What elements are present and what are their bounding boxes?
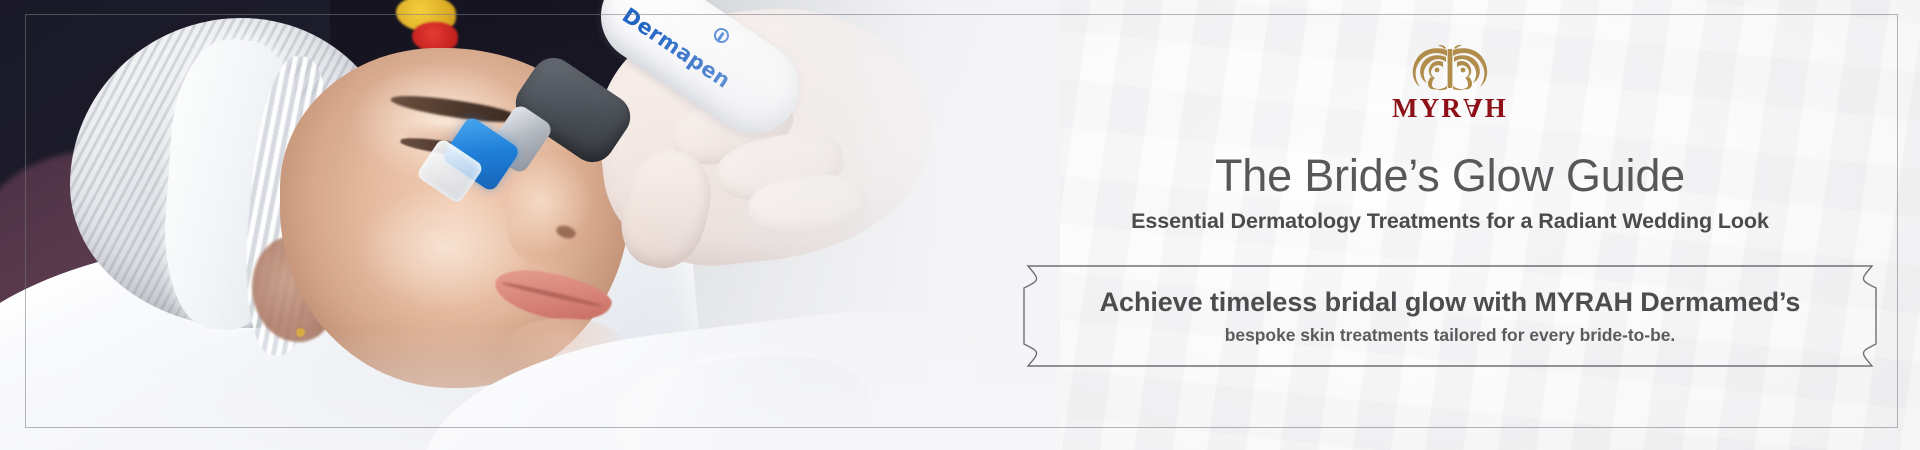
bridal-glow-guide-banner: Dermapen <box>0 0 1920 450</box>
photo-bottom-fade <box>0 330 1060 450</box>
wordmark-inverted-a: A <box>1463 94 1485 121</box>
page-title: The Bride’s Glow Guide <box>1215 152 1685 199</box>
wordmark-prefix: MYR <box>1392 95 1463 122</box>
myrah-logo: MYRAH <box>1392 44 1508 122</box>
treatment-photo: Dermapen <box>0 0 1060 450</box>
callout-content: Achieve timeless bridal glow with MYRAH … <box>1010 266 1890 366</box>
callout-subline: bespoke skin treatments tailored for eve… <box>1225 325 1675 346</box>
callout-headline: Achieve timeless bridal glow with MYRAH … <box>1100 287 1801 318</box>
wordmark-suffix: H <box>1485 95 1508 122</box>
callout-box: Achieve timeless bridal glow with MYRAH … <box>1010 266 1890 366</box>
myrah-wordmark: MYRAH <box>1392 95 1508 122</box>
myrah-ornament-icon <box>1402 44 1498 94</box>
page-subtitle: Essential Dermatology Treatments for a R… <box>1131 209 1769 234</box>
content-column: MYRAH The Bride’s Glow Guide Essential D… <box>980 0 1920 450</box>
